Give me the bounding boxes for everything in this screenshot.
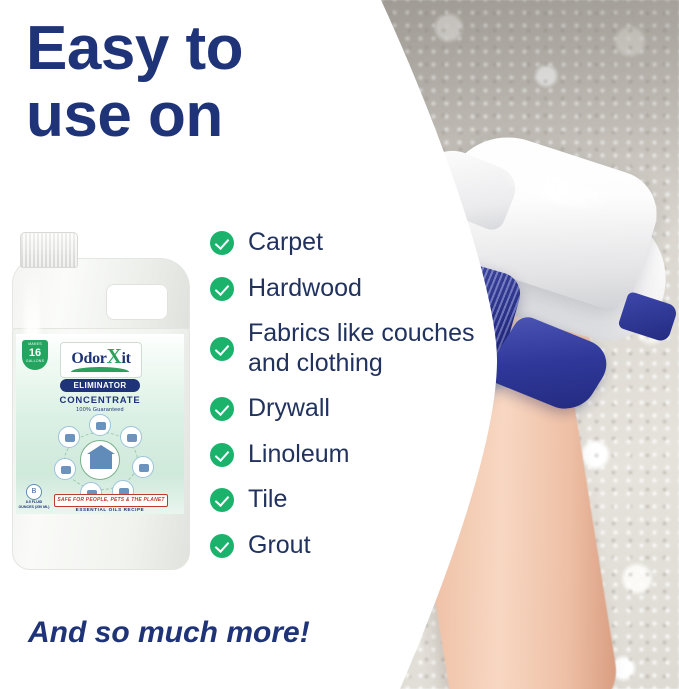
safe-banner: SAFE FOR PEOPLE, PETS & THE PLANET — [54, 494, 168, 507]
list-item: Tile — [210, 485, 500, 515]
usage-icon-ring — [46, 414, 154, 498]
icon-cat — [58, 426, 80, 448]
product-label: MAKES 16 GALLONS OdorXit ELIMINATOR CONC… — [16, 334, 184, 514]
list-item: Hardwood — [210, 274, 500, 304]
badge-unit-text: GALLONS — [22, 360, 48, 364]
list-item-label: Linoleum — [248, 440, 349, 470]
list-item-label: Hardwood — [248, 274, 362, 304]
list-item-label: Tile — [248, 485, 287, 515]
list-item: Carpet — [210, 228, 500, 258]
list-item: Drywall — [210, 394, 500, 424]
guarantee-text: 100% Guaranteed — [16, 407, 184, 413]
brand-odor: Odor — [71, 350, 106, 367]
check-circle-icon — [210, 231, 234, 255]
check-circle-icon — [210, 488, 234, 512]
bottle-handle-cutout — [106, 284, 168, 320]
product-bottle: MAKES 16 GALLONS OdorXit ELIMINATOR CONC… — [8, 232, 198, 572]
brand-it: it — [121, 350, 130, 367]
bottle-cap — [20, 232, 78, 268]
essential-oils-text: ESSENTIAL OILS RECIPE — [54, 507, 166, 512]
list-item-label: Grout — [248, 531, 311, 561]
net-contents-text: 8.5 FLUID OUNCES (250 ML) — [18, 500, 50, 509]
icon-dog — [120, 426, 142, 448]
badge-number: 16 — [22, 348, 48, 359]
icon-person-pet — [89, 414, 111, 436]
icon-lizard — [132, 456, 154, 478]
house-shape — [90, 453, 112, 469]
icon-fish — [54, 458, 76, 480]
surface-list: Carpet Hardwood Fabrics like couches and… — [210, 228, 500, 576]
list-item-label: Drywall — [248, 394, 330, 424]
house-icon — [80, 440, 120, 480]
check-circle-icon — [210, 443, 234, 467]
list-item: Fabrics like couches and clothing — [210, 319, 500, 378]
makes-gallons-badge: MAKES 16 GALLONS — [22, 340, 48, 370]
list-item-label: Carpet — [248, 228, 323, 258]
list-item-label: Fabrics like couches and clothing — [248, 319, 500, 378]
page-title: Easy to use on — [26, 16, 356, 150]
list-item: Linoleum — [210, 440, 500, 470]
check-circle-icon — [210, 337, 234, 361]
brand-logo: OdorXit — [60, 342, 142, 378]
concentrate-text: CONCENTRATE — [16, 395, 184, 406]
check-circle-icon — [210, 534, 234, 558]
eliminator-banner: ELIMINATOR — [60, 379, 140, 392]
logo-swoosh-icon — [71, 367, 129, 372]
list-item: Grout — [210, 531, 500, 561]
check-circle-icon — [210, 397, 234, 421]
brand-x: X — [107, 344, 122, 368]
tagline: And so much more! — [28, 616, 310, 650]
product-feature-graphic: Easy to use on Carpet Hardwood Fabrics l… — [0, 0, 679, 689]
check-circle-icon — [210, 277, 234, 301]
b-corp-icon: B — [26, 484, 42, 500]
